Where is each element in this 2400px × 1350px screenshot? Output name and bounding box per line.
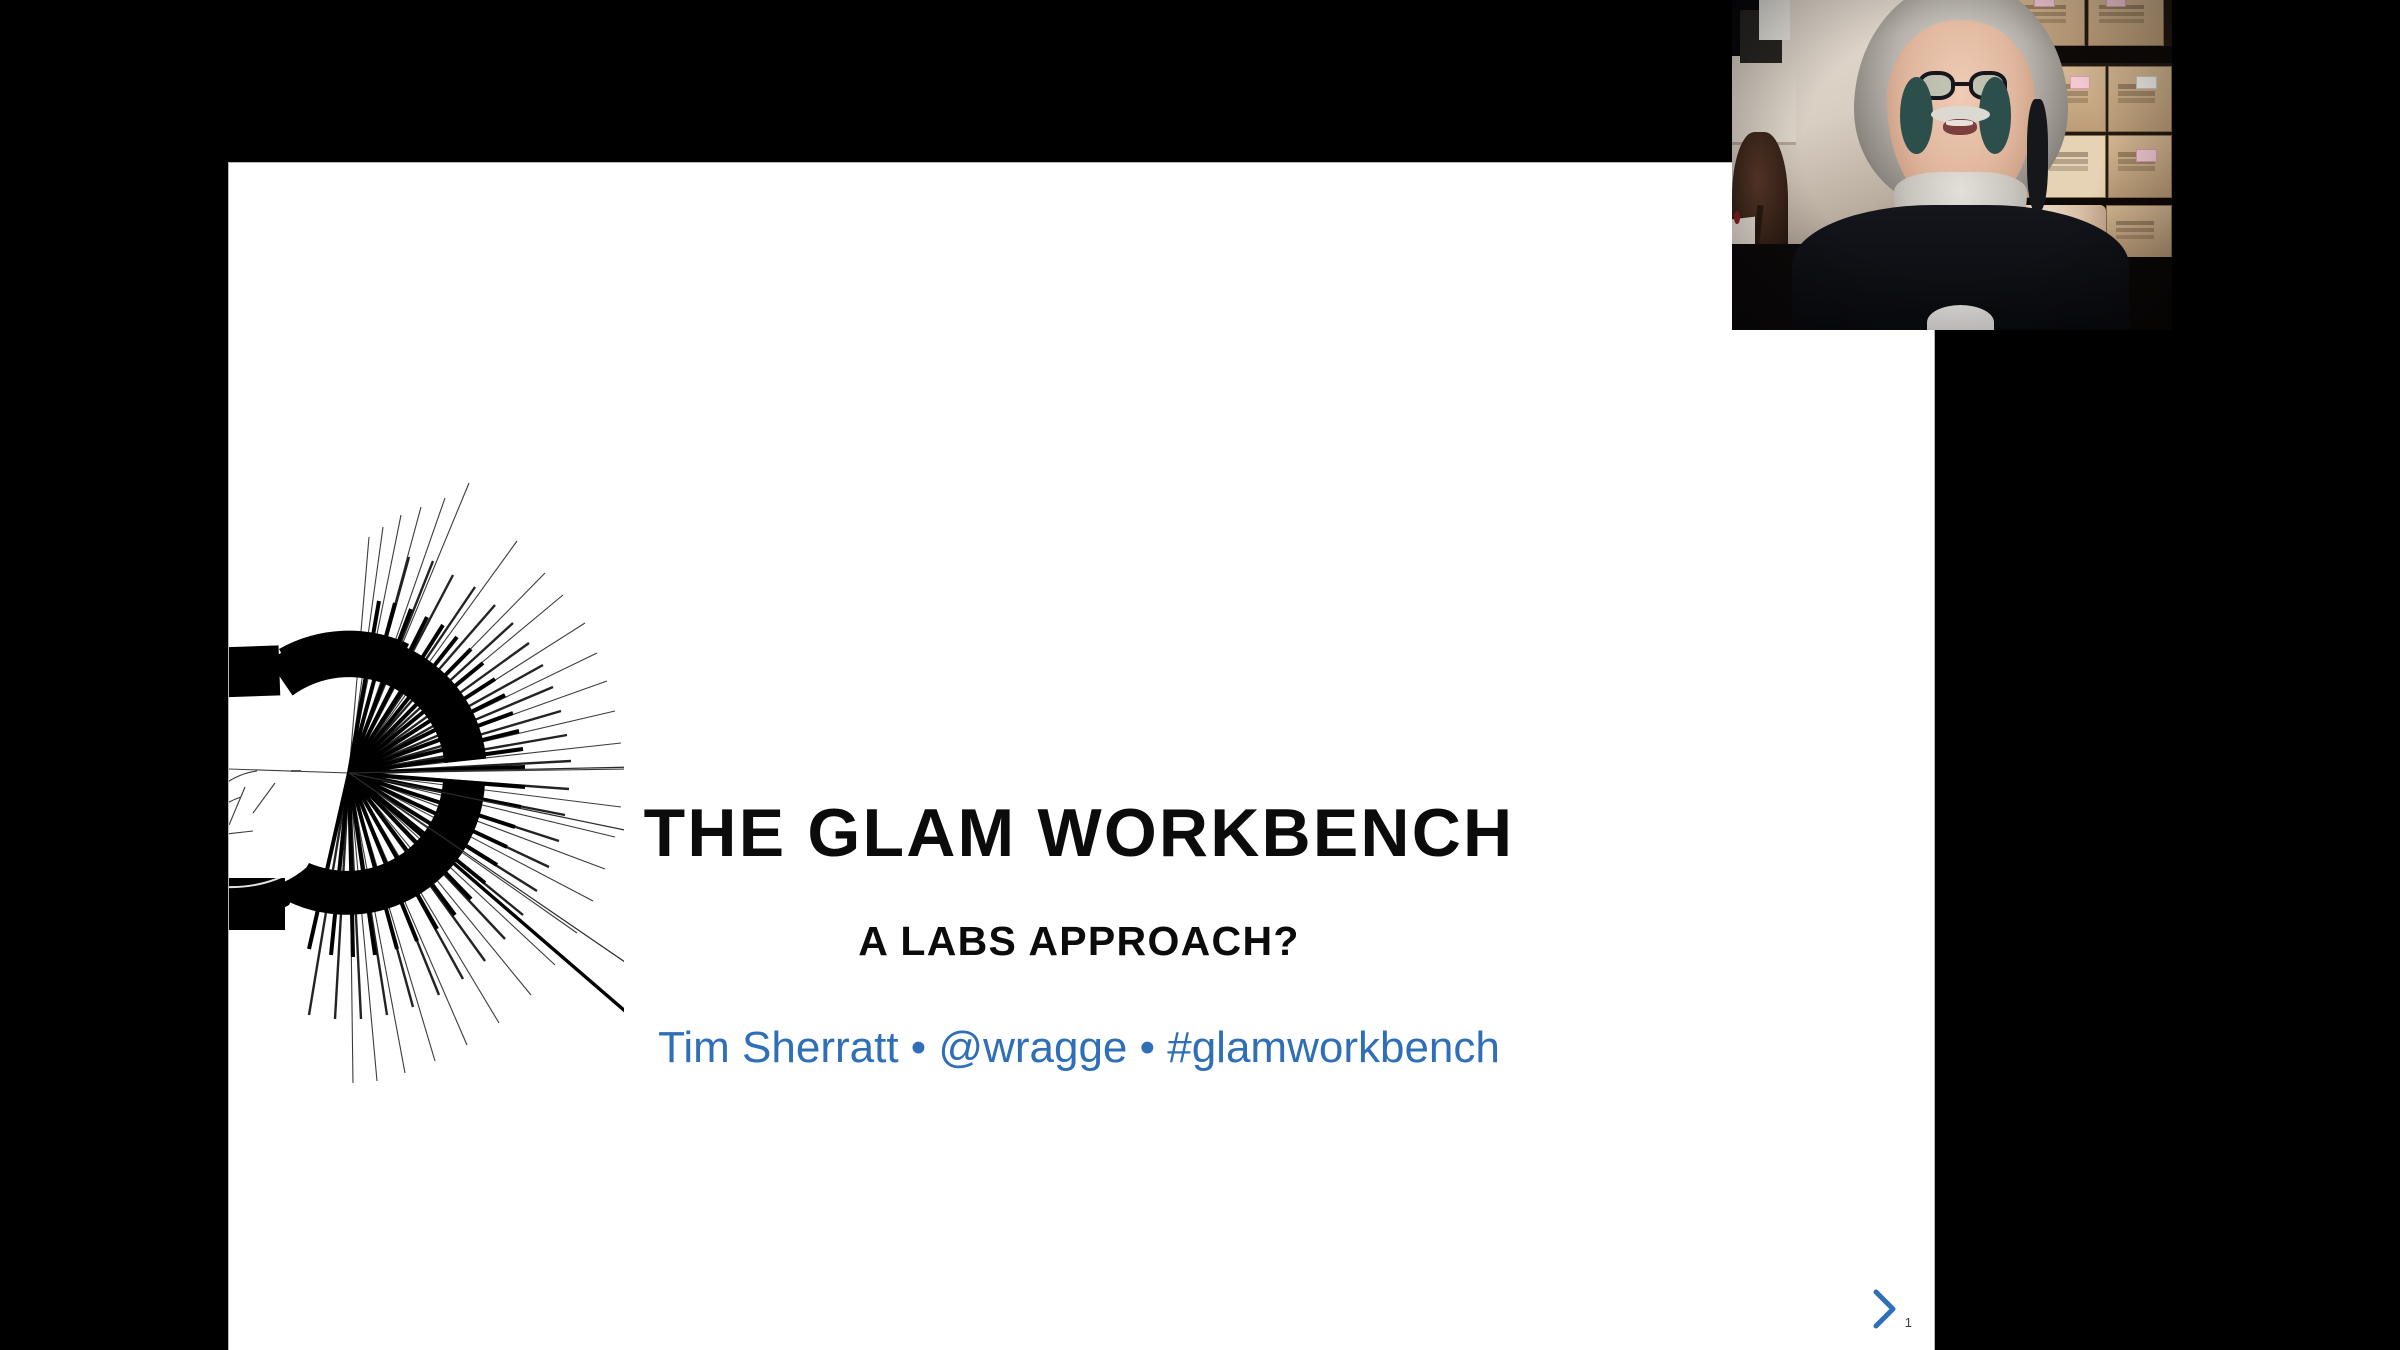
slide-number: 1 bbox=[1905, 1316, 1912, 1332]
glam-workbench-radial-logo bbox=[229, 443, 624, 1083]
video-frame: BOX bbox=[1732, 0, 2172, 330]
slide-navigation[interactable]: 1 bbox=[1867, 1286, 1912, 1332]
video-vignette bbox=[1732, 0, 2172, 330]
presentation-slide[interactable]: THE GLAM WORKBENCH A LABS APPROACH? Tim … bbox=[229, 163, 1934, 1350]
screen-root: THE GLAM WORKBENCH A LABS APPROACH? Tim … bbox=[0, 0, 2400, 1350]
chevron-right-icon[interactable] bbox=[1867, 1286, 1901, 1332]
slide-byline: Tim Sherratt • @wragge • #glamworkbench bbox=[529, 1026, 1629, 1070]
slide-subtitle: A LABS APPROACH? bbox=[529, 921, 1629, 962]
presenter-video[interactable]: BOX bbox=[1732, 0, 2172, 330]
page-title: THE GLAM WORKBENCH bbox=[529, 799, 1629, 867]
